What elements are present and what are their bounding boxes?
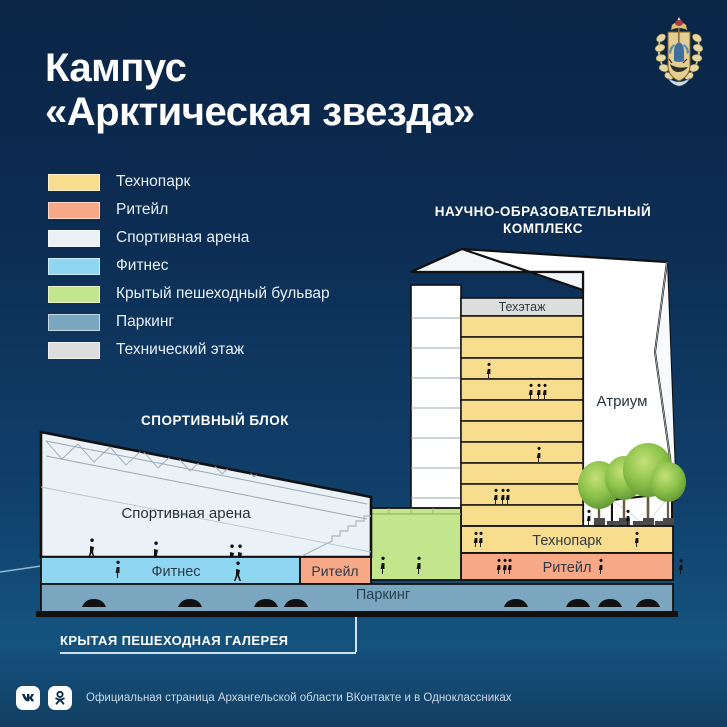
building-section-drawing: Техэтаж Атриум [0, 0, 727, 727]
label-retail-right: Ритейл [543, 560, 592, 576]
footer: Официальная страница Архангельской облас… [16, 686, 512, 710]
footer-text: Официальная страница Архангельской облас… [86, 692, 512, 704]
covered-boulevard [371, 508, 461, 580]
label-retail-left: Ритейл [311, 563, 358, 579]
vk-icon[interactable] [16, 686, 40, 710]
label-fitness: Фитнес [151, 564, 200, 580]
sports-arena-volume [41, 432, 371, 557]
label-parking: Паркинг [356, 587, 410, 603]
foundation-slab [36, 611, 678, 617]
ok-icon[interactable] [48, 686, 72, 710]
label-atrium: Атриум [597, 393, 648, 410]
infographic-canvas: Кампус «Арктическая звезда» Технопарк Ри… [0, 0, 727, 727]
technopark-floor-stack [461, 316, 583, 526]
ground-line-left [0, 566, 41, 572]
label-technopark: Технопарк [532, 533, 602, 549]
label-tech-floor: Техэтаж [499, 300, 547, 314]
label-sports-arena: Спортивная арена [121, 505, 251, 522]
